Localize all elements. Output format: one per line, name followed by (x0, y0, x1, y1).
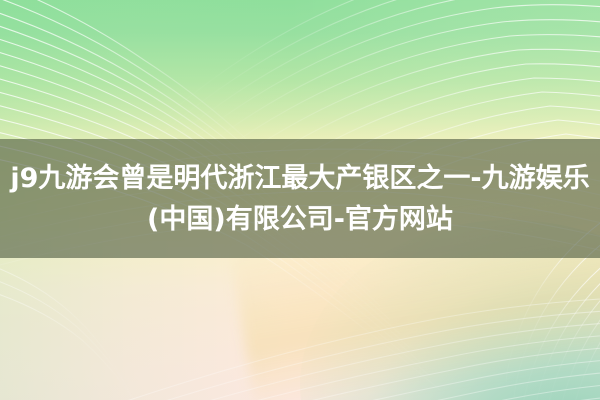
page-title: j9九游会曾是明代浙江最大产银区之一-九游娱乐(中国)有限公司-官方网站 (0, 158, 600, 240)
headline-band: j9九游会曾是明代浙江最大产银区之一-九游娱乐(中国)有限公司-官方网站 (0, 139, 600, 258)
banner-image: j9九游会曾是明代浙江最大产银区之一-九游娱乐(中国)有限公司-官方网站 (0, 0, 600, 400)
